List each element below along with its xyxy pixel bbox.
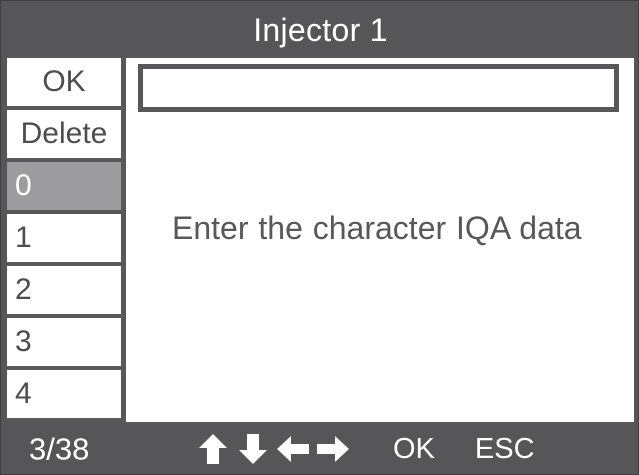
status-bar: 3/38 OK E — [1, 422, 639, 475]
list-item-label: Delete — [21, 117, 108, 151]
list-item-label: 3 — [15, 325, 32, 359]
list-item-delete[interactable]: Delete — [7, 110, 121, 162]
list-item-1[interactable]: 1 — [7, 214, 121, 266]
item-counter: 3/38 — [29, 434, 89, 465]
page-title: Injector 1 — [253, 14, 388, 46]
esc-key-hint[interactable]: ESC — [475, 435, 535, 464]
ok-key-hint[interactable]: OK — [393, 435, 435, 464]
list-item-ok[interactable]: OK — [7, 58, 121, 110]
list-item-label: 4 — [15, 377, 32, 411]
arrow-right-icon[interactable] — [316, 432, 350, 466]
body-area: OK Delete 0 1 2 3 4 — [1, 58, 639, 422]
arrow-left-icon[interactable] — [276, 432, 310, 466]
title-bar: Injector 1 — [1, 1, 639, 58]
prompt-message: Enter the character IQA data — [140, 206, 627, 251]
list-item-0[interactable]: 0 — [7, 162, 121, 214]
iqa-input-box[interactable] — [138, 64, 619, 112]
arrow-down-icon[interactable] — [236, 432, 270, 466]
list-item-3[interactable]: 3 — [7, 318, 121, 370]
list-item-label: 1 — [15, 221, 32, 255]
list-item-label: OK — [42, 65, 85, 99]
key-hint-group: OK ESC — [196, 432, 535, 466]
list-item-label: 2 — [15, 273, 32, 307]
list-item-label: 0 — [15, 169, 32, 203]
iqa-input-field[interactable] — [143, 69, 614, 107]
list-item-2[interactable]: 2 — [7, 266, 121, 318]
content-pane: Enter the character IQA data — [131, 58, 634, 422]
arrow-up-icon[interactable] — [196, 432, 230, 466]
device-screen: Injector 1 OK Delete 0 1 2 3 4 — [0, 0, 639, 475]
list-item-4[interactable]: 4 — [7, 370, 121, 422]
character-list[interactable]: OK Delete 0 1 2 3 4 — [7, 58, 126, 422]
